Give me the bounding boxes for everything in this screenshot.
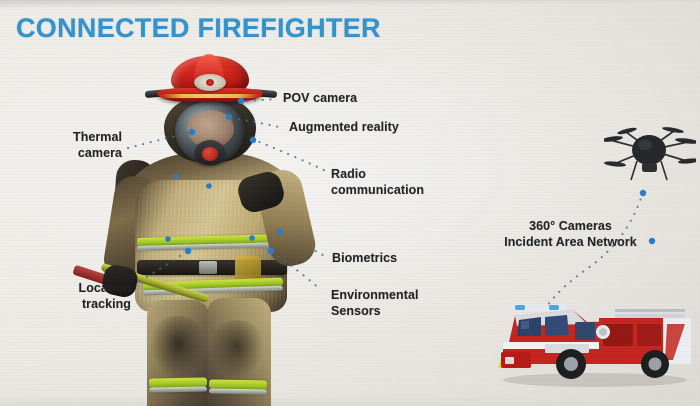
node-chest-sensor	[206, 183, 212, 189]
node-belt-sensor	[165, 236, 171, 242]
callout-label-biometrics: Biometrics	[332, 251, 397, 267]
callout-label-pov-camera: POV camera	[283, 91, 357, 107]
leader-biometrics	[281, 233, 323, 255]
leader-location-tracking	[140, 252, 186, 281]
callout-label-environmental-sensors: Environmental Sensors	[331, 288, 418, 319]
leader-radio-communication	[252, 139, 328, 172]
callout-label-location-tracking: Location tracking	[0, 281, 131, 312]
node-biometrics	[277, 229, 283, 235]
node-augmented-reality	[226, 114, 232, 120]
node-hip-sensor	[249, 235, 255, 241]
node-drone-link	[649, 238, 655, 244]
node-pov-camera	[238, 98, 244, 104]
node-thermal-camera	[189, 129, 195, 135]
slide-canvas: CONNECTED FIREFIGHTER POV camera Augment…	[0, 0, 700, 406]
leader-pov-camera	[247, 99, 276, 101]
page-title: CONNECTED FIREFIGHTER	[16, 13, 381, 44]
node-drone	[640, 190, 646, 196]
node-radio-communication	[250, 137, 256, 143]
callout-connector-layer	[0, 0, 700, 406]
node-shoulder-sensor	[173, 173, 178, 178]
node-location-tracking	[185, 248, 191, 254]
leader-thermal-camera	[128, 133, 190, 148]
callout-label-radio-communication: Radio communication	[331, 167, 424, 198]
leader-augmented-reality	[231, 118, 283, 128]
callout-label-thermal-camera: Thermal camera	[0, 130, 122, 161]
callout-label-incident-area-network: 360° Cameras Incident Area Network	[498, 219, 643, 250]
callout-label-augmented-reality: Augmented reality	[289, 120, 399, 136]
leader-environmental-sensors	[272, 252, 320, 289]
node-environmental-sensors	[268, 248, 274, 254]
